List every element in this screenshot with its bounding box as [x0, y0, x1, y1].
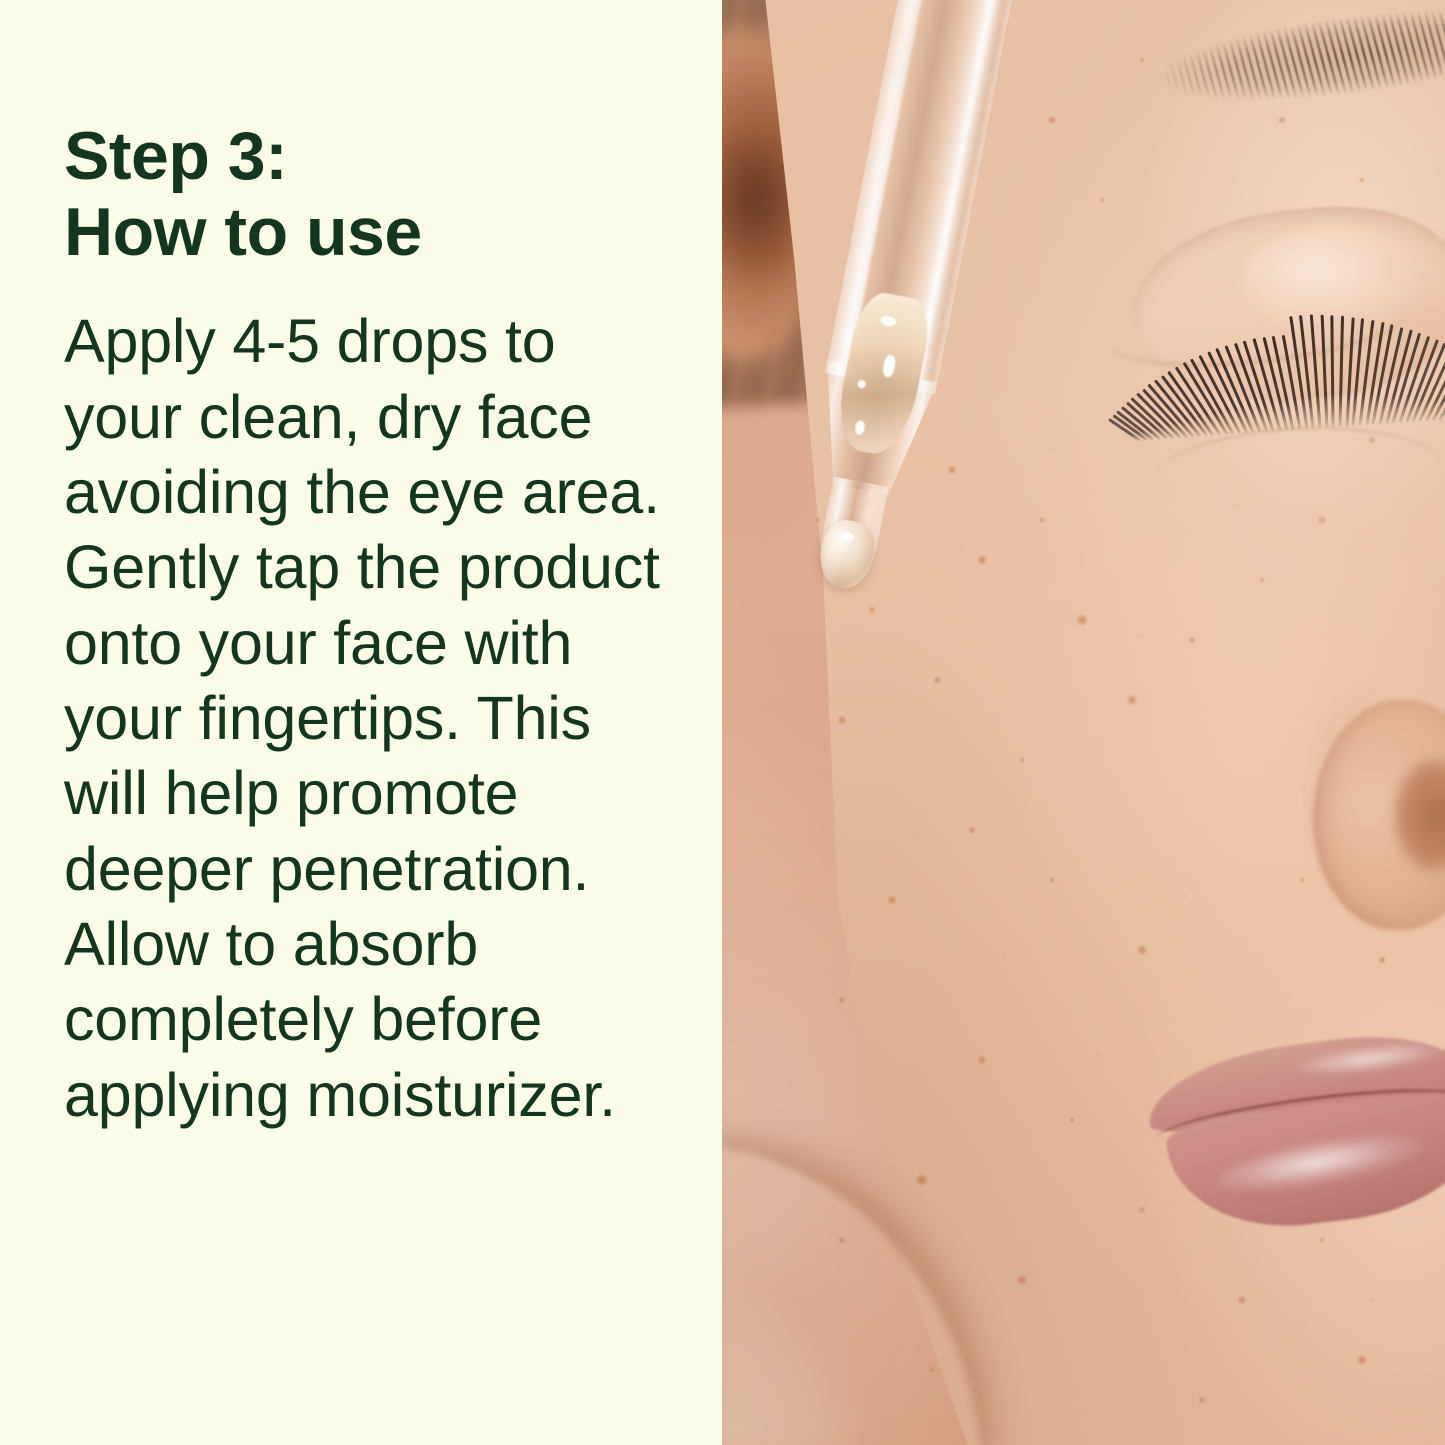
lips [1141, 1010, 1445, 1250]
eyelash [1331, 315, 1335, 427]
eyelash [1412, 343, 1445, 423]
usage-instructions: Apply 4-5 drops to your clean, dry face … [64, 304, 662, 1133]
eyelash [1224, 345, 1261, 433]
text-panel: Step 3: How to use Apply 4-5 drops to yo… [0, 0, 722, 1445]
eyelash [1320, 315, 1327, 428]
product-step-card: Step 3: How to use Apply 4-5 drops to yo… [0, 0, 1445, 1445]
product-photo [722, 0, 1445, 1445]
page-title: Step 3: How to use [64, 118, 662, 270]
eyelash [1338, 316, 1343, 427]
